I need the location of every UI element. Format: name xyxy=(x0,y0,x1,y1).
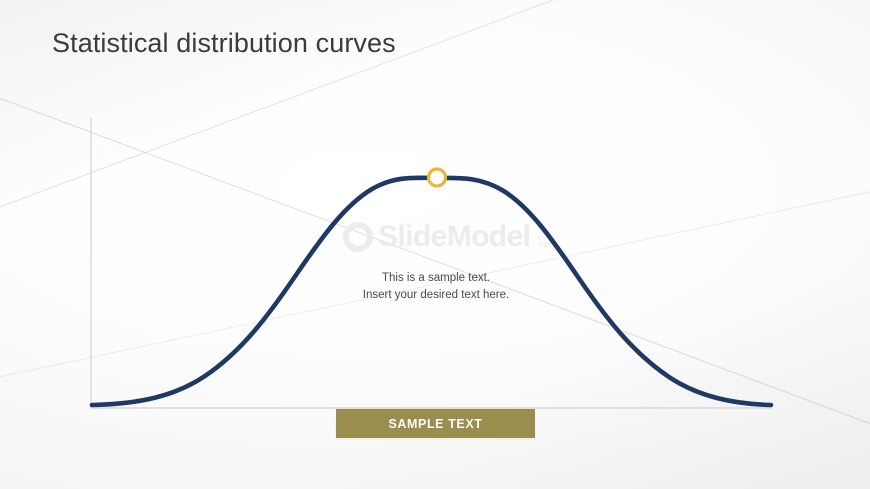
peak-marker[interactable] xyxy=(429,169,446,186)
slide-canvas: Statistical distribution curves SlideMod… xyxy=(0,0,870,489)
sample-text-banner[interactable]: SAMPLE TEXT xyxy=(336,409,535,438)
sample-text-block[interactable]: This is a sample text. Insert your desir… xyxy=(336,270,536,304)
banner-label: SAMPLE TEXT xyxy=(388,417,482,431)
sample-text-line-1: This is a sample text. xyxy=(336,270,536,287)
sample-text-line-2: Insert your desired text here. xyxy=(336,287,536,304)
